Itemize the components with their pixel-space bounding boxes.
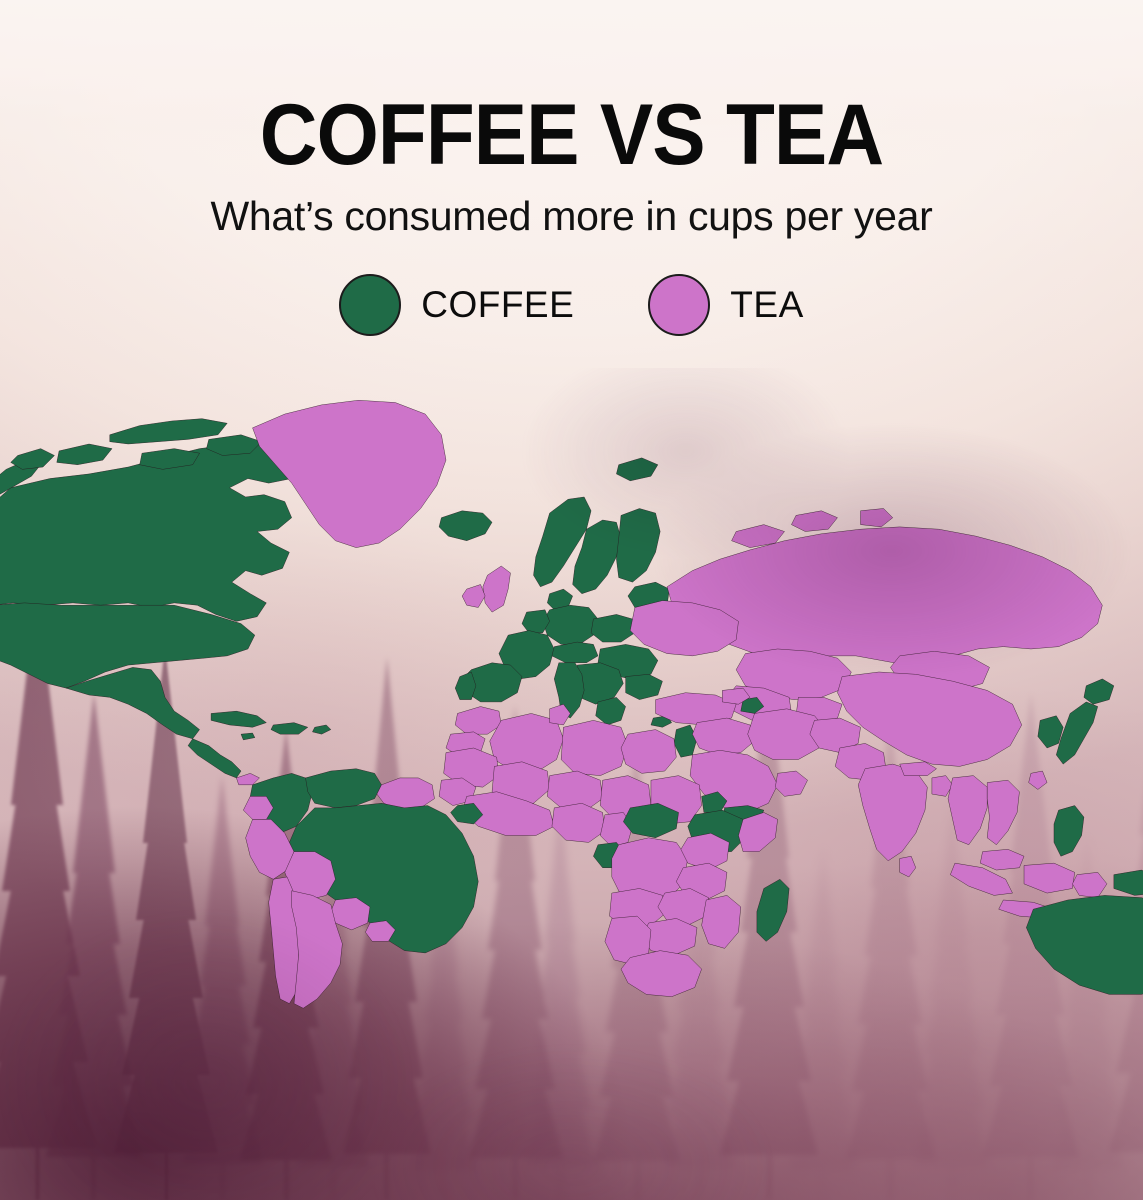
arctic-archipelago-2: [57, 444, 112, 465]
region-asia: [835, 672, 1114, 918]
country-libya: [561, 720, 628, 775]
country-egypt: [621, 730, 676, 774]
country-morocco: [455, 707, 501, 735]
russian-arctic-islands-2: [791, 511, 837, 532]
country-bulgaria: [626, 674, 663, 699]
arctic-archipelago-3: [11, 449, 55, 470]
region-europe: [455, 458, 671, 727]
country-panama: [236, 773, 259, 785]
country-myanmar-thailand: [948, 776, 987, 845]
infographic-canvas: COFFEE VS TEA What’s consumed more in cu…: [0, 0, 1143, 1200]
legend-item-coffee[interactable]: COFFEE: [339, 274, 574, 336]
country-australia: [1026, 895, 1143, 994]
filled-circle-icon-coffee: [339, 274, 401, 336]
country-philippines: [1054, 806, 1084, 857]
country-jamaica: [241, 733, 255, 740]
country-mozambique: [702, 895, 741, 948]
country-japan: [1056, 702, 1097, 764]
infographic-header: COFFEE VS TEA What’s consumed more in cu…: [0, 0, 1143, 336]
country-czechia-slovakia-poland-border: [591, 614, 635, 642]
country-madagascar: [757, 879, 789, 941]
country-oman-uae: [775, 771, 807, 796]
central-america: [188, 739, 241, 778]
country-cuba: [211, 711, 266, 727]
country-venezuela: [306, 769, 382, 808]
country-ireland: [462, 584, 485, 607]
legend-label-coffee: COFFEE: [421, 284, 574, 326]
page-subtitle: What’s consumed more in cups per year: [0, 193, 1143, 240]
country-switzerland-austria: [552, 642, 598, 663]
filled-circle-icon-tea: [648, 274, 710, 336]
country-greenland-iceland-iceland: [439, 511, 492, 541]
country-japan-hokkaido: [1084, 679, 1114, 704]
country-puerto-rico: [312, 725, 330, 734]
country-nigeria: [552, 803, 605, 842]
world-choropleth-map: [0, 368, 1143, 1013]
legend-item-tea[interactable]: TEA: [648, 274, 803, 336]
country-finland: [616, 508, 660, 582]
country-laos-vietnam-cambodia: [987, 780, 1019, 844]
country-taiwan: [1029, 771, 1047, 789]
country-greece: [596, 697, 626, 725]
region-south-america: [236, 769, 478, 1009]
country-russia: [667, 527, 1102, 665]
country-papua-new-guinea: [1114, 870, 1143, 895]
country-india: [858, 764, 927, 861]
page-title: COFFEE VS TEA: [40, 0, 1103, 175]
map-legend: COFFEE TEA: [0, 274, 1143, 336]
country-portugal: [455, 672, 476, 700]
country-germany: [543, 605, 598, 644]
country-sri-lanka: [900, 856, 916, 877]
country-israel-lebanon-jordan: [674, 725, 697, 757]
country-indonesia-borneo: [1024, 863, 1075, 893]
country-syria-iraq: [692, 718, 754, 755]
russian-arctic-islands-3: [861, 508, 893, 526]
country-indonesia-sulawesi: [1072, 872, 1107, 897]
country-hispaniola: [271, 723, 308, 735]
country-svalbard: [616, 458, 657, 481]
country-united-kingdom: [483, 566, 511, 612]
country-south-africa: [621, 951, 702, 997]
country-korea: [1038, 716, 1063, 748]
country-malaysia: [980, 849, 1024, 870]
country-zambia-malawi: [658, 888, 709, 925]
legend-label-tea: TEA: [730, 284, 803, 326]
